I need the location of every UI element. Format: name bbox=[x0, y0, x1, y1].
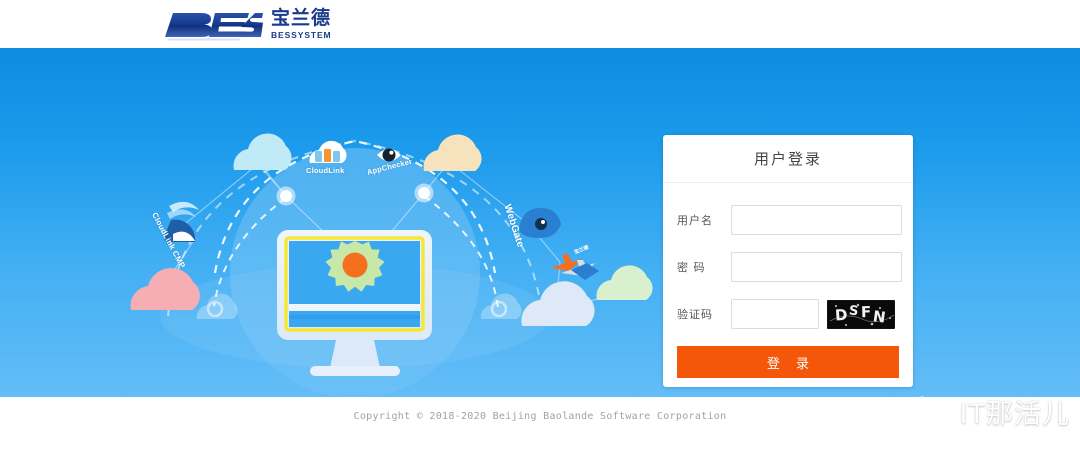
svg-text:宝兰德: 宝兰德 bbox=[573, 244, 590, 256]
page-header: 宝兰德 BESSYSTEM bbox=[0, 0, 1080, 48]
brand-name-en: BESSYSTEM bbox=[271, 31, 332, 40]
captcha-char-2: S bbox=[848, 303, 861, 319]
brand-name-cn: 宝兰德 bbox=[271, 9, 332, 28]
username-row: 用户名 bbox=[677, 205, 899, 235]
password-label: 密 码 bbox=[677, 259, 731, 275]
password-row: 密 码 bbox=[677, 252, 899, 282]
hero-banner: 宝兰德 CloudLink CMP CloudLink bbox=[0, 48, 1080, 397]
captcha-char-4: N bbox=[872, 307, 889, 327]
captcha-input[interactable] bbox=[731, 299, 819, 329]
captcha-label: 验证码 bbox=[677, 306, 731, 322]
watermark: IT那活儿 bbox=[908, 392, 1070, 431]
brand-logo-text: 宝兰德 BESSYSTEM bbox=[271, 9, 332, 40]
captcha-row: 验证码 D bbox=[677, 299, 899, 329]
password-input[interactable] bbox=[731, 252, 902, 282]
captcha-image[interactable]: D S F N bbox=[827, 300, 895, 329]
wechat-icon bbox=[908, 393, 954, 431]
username-input[interactable] bbox=[731, 205, 902, 235]
watermark-text: IT那活儿 bbox=[960, 392, 1070, 431]
login-panel: 用户登录 用户名 密 码 验证码 bbox=[663, 135, 913, 387]
username-label: 用户名 bbox=[677, 212, 731, 228]
brand-logo[interactable]: 宝兰德 BESSYSTEM bbox=[163, 4, 332, 44]
login-page: 宝兰德 BESSYSTEM bbox=[0, 0, 1080, 460]
bes-logo-icon bbox=[163, 7, 263, 41]
product-label-cloudlink: CloudLink bbox=[306, 166, 344, 175]
login-submit-button[interactable]: 登 录 bbox=[677, 346, 899, 378]
captcha-char-1: D bbox=[834, 306, 850, 325]
captcha-char-3: F bbox=[860, 303, 873, 321]
login-panel-title: 用户登录 bbox=[663, 135, 913, 183]
login-form: 用户名 密 码 验证码 bbox=[663, 183, 913, 378]
captcha-text: D S F N bbox=[828, 301, 894, 328]
